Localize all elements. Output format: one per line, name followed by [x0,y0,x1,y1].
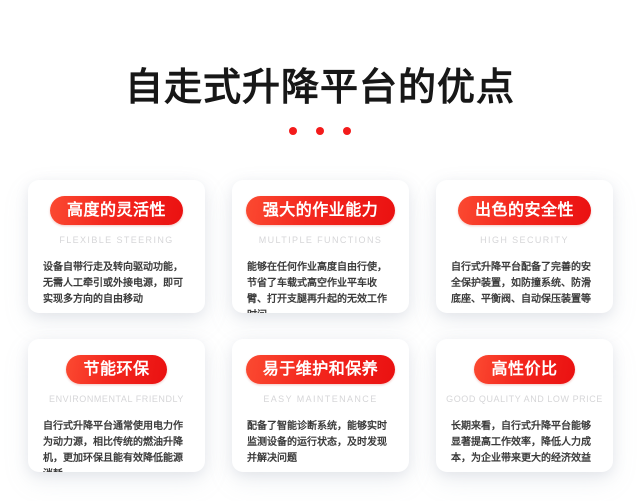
card-body-1: 设备自带行走及转向驱动功能，无需人工牵引或外接电源，即可实现多方向的自由移动 [39,260,194,308]
card-body-3: 自行式升降平台配备了完善的安全保护装置，如防撞系统、防滑底座、平衡阀、自动保压装… [447,260,602,308]
advantage-card-6: 高性价比 GOOD QUALITY AND LOW PRICE 长期来看，自行式… [436,339,613,472]
card-subtitle-6: GOOD QUALITY AND LOW PRICE [446,393,603,405]
advantage-card-3: 出色的安全性 HIGH SECURITY 自行式升降平台配备了完善的安全保护装置… [436,180,613,313]
card-body-4: 自行式升降平台通常使用电力作为动力源，相比传统的燃油升降机，更加环保且能有效降低… [39,419,194,472]
card-body-6: 长期来看，自行式升降平台能够显著提高工作效率，降低人力成本，为企业带来更大的经济… [447,419,602,467]
card-badge-6: 高性价比 [474,355,574,384]
card-badge-4: 节能环保 [66,355,166,384]
card-badge-1: 高度的灵活性 [50,196,183,225]
page-header: 自走式升降平台的优点 [0,0,640,135]
card-body-5: 配备了智能诊断系统，能够实时监测设备的运行状态，及时发现并解决问题 [243,419,398,467]
card-subtitle-1: FLEXIBLE STEERING [59,234,173,246]
card-subtitle-3: HIGH SECURITY [480,234,569,246]
infographic-page: 自走式升降平台的优点 高度的灵活性 FLEXIBLE STEERING 设备自带… [0,0,640,501]
advantage-card-2: 强大的作业能力 MULTIPLE FUNCTIONS 能够在任何作业高度自由行使… [232,180,409,313]
card-subtitle-2: MULTIPLE FUNCTIONS [259,234,383,246]
decorative-dots [0,127,640,135]
card-subtitle-4: ENVIRONMENTAL FRIENDLY [49,393,184,405]
advantage-card-4: 节能环保 ENVIRONMENTAL FRIENDLY 自行式升降平台通常使用电… [28,339,205,472]
card-badge-2: 强大的作业能力 [246,196,396,225]
advantage-card-grid: 高度的灵活性 FLEXIBLE STEERING 设备自带行走及转向驱动功能，无… [28,180,612,472]
dot-icon-1 [289,127,297,135]
card-badge-3: 出色的安全性 [458,196,591,225]
dot-icon-3 [343,127,351,135]
card-badge-5: 易于维护和保养 [246,355,396,384]
dot-icon-2 [316,127,324,135]
card-body-2: 能够在任何作业高度自由行使，节省了车载式高空作业平车收臂、打开支腿再升起的无效工… [243,260,398,313]
page-title: 自走式升降平台的优点 [0,66,640,110]
advantage-card-1: 高度的灵活性 FLEXIBLE STEERING 设备自带行走及转向驱动功能，无… [28,180,205,313]
card-subtitle-5: EASY MAINTENANCE [263,393,377,405]
advantage-card-5: 易于维护和保养 EASY MAINTENANCE 配备了智能诊断系统，能够实时监… [232,339,409,472]
